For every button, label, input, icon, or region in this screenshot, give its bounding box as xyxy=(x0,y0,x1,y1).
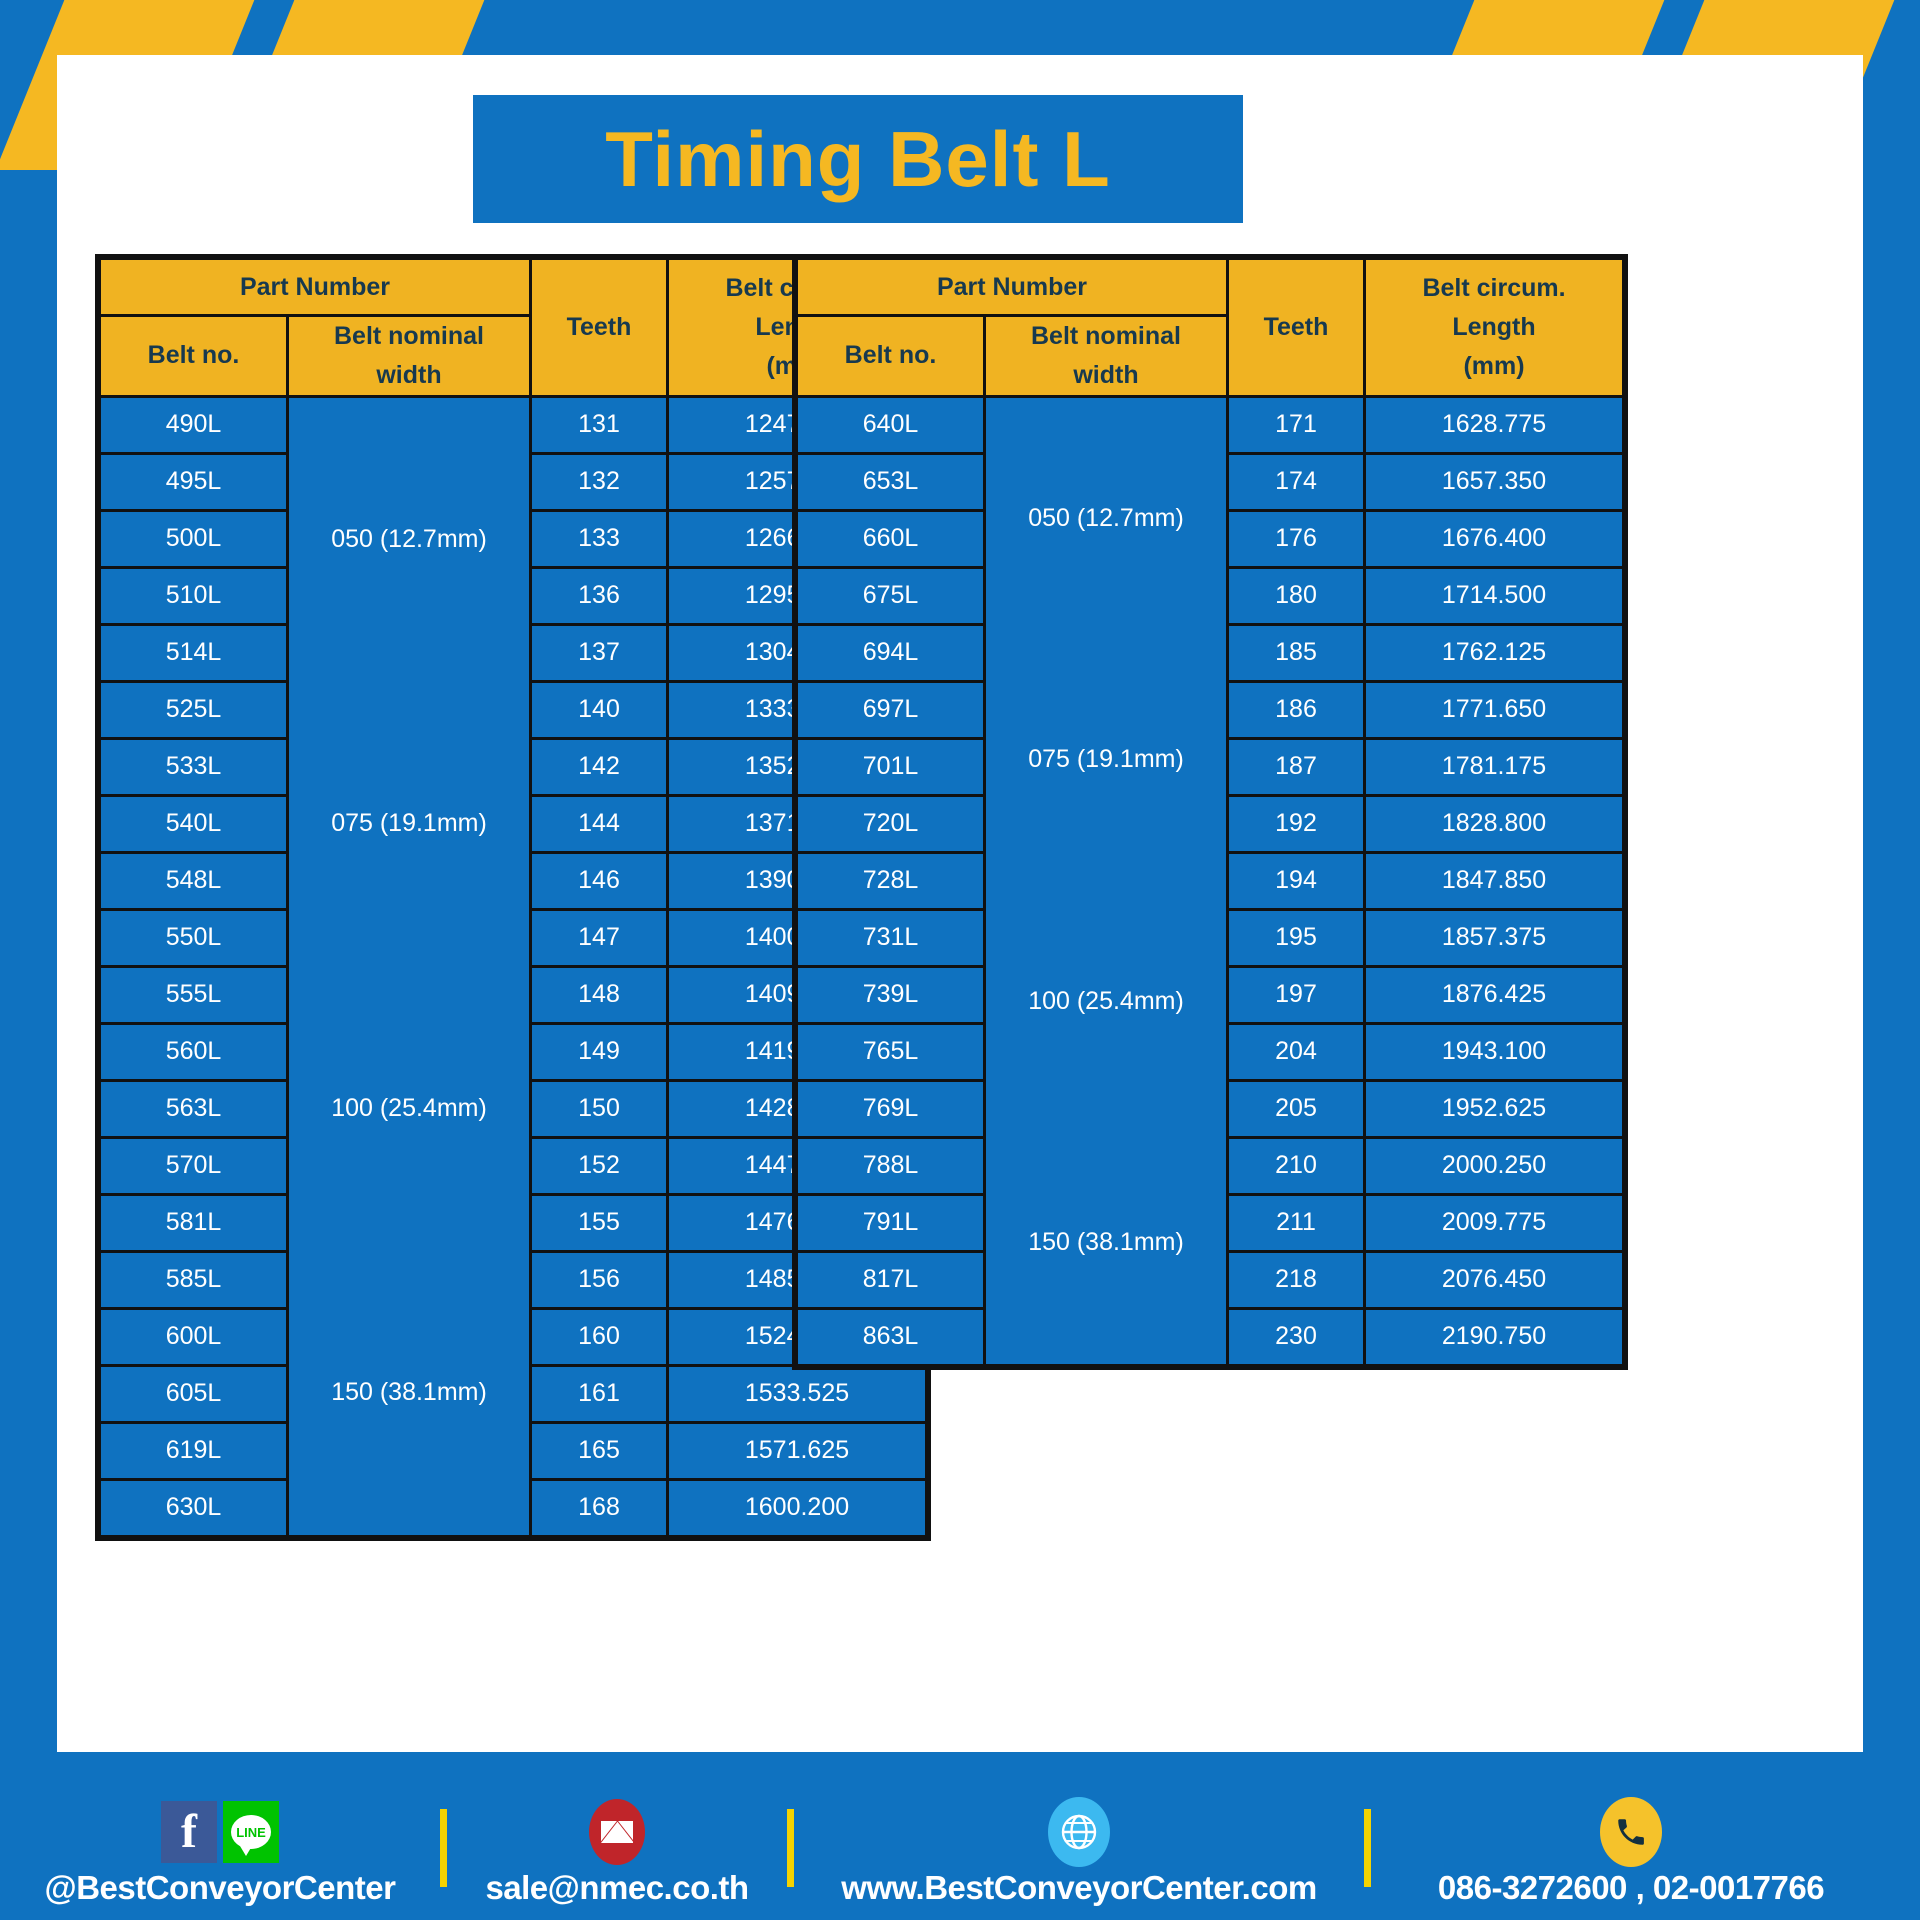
belt-width-option-0: 050 (12.7mm) xyxy=(986,502,1226,535)
envelope-icon xyxy=(600,1820,634,1844)
cell-teeth: 161 xyxy=(532,1367,666,1421)
cell-belt-length: 1657.350 xyxy=(1366,455,1622,509)
cell-teeth: 192 xyxy=(1229,797,1363,851)
header-belt-circum-l1-right: Belt circum. xyxy=(1422,274,1565,302)
footer-divider-2 xyxy=(787,1809,794,1887)
cell-belt-no: 630L xyxy=(101,1481,286,1535)
cell-teeth: 204 xyxy=(1229,1025,1363,1079)
cell-teeth: 152 xyxy=(532,1139,666,1193)
cell-teeth: 176 xyxy=(1229,512,1363,566)
line-bubble-icon: LINE xyxy=(231,1815,271,1849)
footer-website-icons xyxy=(1048,1799,1110,1865)
cell-belt-length: 2000.250 xyxy=(1366,1139,1622,1193)
cell-belt-nominal-width: 050 (12.7mm)075 (19.1mm)100 (25.4mm)150 … xyxy=(289,398,529,1535)
footer-social-icons: f LINE xyxy=(161,1799,279,1865)
globe-icon[interactable] xyxy=(1048,1797,1110,1867)
cell-teeth: 165 xyxy=(532,1424,666,1478)
cell-belt-no: 701L xyxy=(798,740,983,794)
cell-teeth: 144 xyxy=(532,797,666,851)
footer-website[interactable]: www.BestConveyorCenter.com xyxy=(794,1789,1364,1907)
header-belt-width-l1-right: Belt nominal xyxy=(1031,322,1181,350)
cell-belt-no: 863L xyxy=(798,1310,983,1364)
cell-belt-no: 555L xyxy=(101,968,286,1022)
cell-teeth: 185 xyxy=(1229,626,1363,680)
header-belt-width-l2-left: width xyxy=(376,361,441,389)
header-row-top-right: Part Number Teeth Belt circum. Length (m… xyxy=(798,260,1622,314)
cell-belt-no: 540L xyxy=(101,797,286,851)
page-title: Timing Belt L xyxy=(605,114,1111,205)
footer-social[interactable]: f LINE @BestConveyorCenter xyxy=(0,1789,440,1907)
cell-teeth: 140 xyxy=(532,683,666,737)
cell-belt-no: 697L xyxy=(798,683,983,737)
globe-glyph-icon xyxy=(1059,1812,1099,1852)
cell-belt-length: 2190.750 xyxy=(1366,1310,1622,1364)
cell-belt-no: 495L xyxy=(101,455,286,509)
cell-teeth: 186 xyxy=(1229,683,1363,737)
cell-belt-no: 500L xyxy=(101,512,286,566)
footer-email[interactable]: sale@nmec.co.th xyxy=(447,1789,787,1907)
header-belt-no-right: Belt no. xyxy=(798,317,983,395)
belt-width-option-1: 075 (19.1mm) xyxy=(986,743,1226,776)
cell-teeth: 197 xyxy=(1229,968,1363,1022)
cell-teeth: 155 xyxy=(532,1196,666,1250)
header-part-number-left: Part Number xyxy=(101,260,529,314)
cell-belt-no: 563L xyxy=(101,1082,286,1136)
cell-belt-no: 653L xyxy=(798,455,983,509)
cell-teeth: 146 xyxy=(532,854,666,908)
cell-belt-no: 640L xyxy=(798,398,983,452)
footer-phone[interactable]: 086-3272600 , 02-0017766 xyxy=(1371,1789,1891,1907)
cell-belt-no: 694L xyxy=(798,626,983,680)
cell-belt-no: 791L xyxy=(798,1196,983,1250)
cell-belt-no: 605L xyxy=(101,1367,286,1421)
cell-teeth: 210 xyxy=(1229,1139,1363,1193)
cell-belt-no: 581L xyxy=(101,1196,286,1250)
cell-belt-no: 817L xyxy=(798,1253,983,1307)
belt-width-option-2: 100 (25.4mm) xyxy=(986,985,1226,1018)
cell-teeth: 211 xyxy=(1229,1196,1363,1250)
cell-belt-no: 550L xyxy=(101,911,286,965)
footer-divider-3 xyxy=(1364,1809,1371,1887)
cell-belt-no: 533L xyxy=(101,740,286,794)
cell-teeth: 147 xyxy=(532,911,666,965)
cell-teeth: 133 xyxy=(532,512,666,566)
cell-belt-no: 510L xyxy=(101,569,286,623)
cell-teeth: 131 xyxy=(532,398,666,452)
cell-teeth: 205 xyxy=(1229,1082,1363,1136)
cell-belt-no: 720L xyxy=(798,797,983,851)
cell-teeth: 132 xyxy=(532,455,666,509)
cell-teeth: 174 xyxy=(1229,455,1363,509)
cell-teeth: 168 xyxy=(532,1481,666,1535)
cell-belt-no: 731L xyxy=(798,911,983,965)
table-head-right: Part Number Teeth Belt circum. Length (m… xyxy=(798,260,1622,395)
cell-teeth: 136 xyxy=(532,569,666,623)
cell-belt-no: 570L xyxy=(101,1139,286,1193)
cell-belt-no: 548L xyxy=(101,854,286,908)
facebook-icon[interactable]: f xyxy=(161,1801,217,1863)
cell-teeth: 195 xyxy=(1229,911,1363,965)
belt-width-option-1: 075 (19.1mm) xyxy=(289,807,529,840)
table-row: 640L050 (12.7mm)075 (19.1mm)100 (25.4mm)… xyxy=(798,398,1622,452)
cell-teeth: 194 xyxy=(1229,854,1363,908)
cell-teeth: 171 xyxy=(1229,398,1363,452)
cell-belt-no: 765L xyxy=(798,1025,983,1079)
contact-footer: f LINE @BestConveyorCenter sale@nmec.co.… xyxy=(0,1776,1920,1920)
cell-belt-no: 560L xyxy=(101,1025,286,1079)
table-body-right: 640L050 (12.7mm)075 (19.1mm)100 (25.4mm)… xyxy=(798,398,1622,1364)
cell-belt-no: 739L xyxy=(798,968,983,1022)
cell-teeth: 187 xyxy=(1229,740,1363,794)
footer-phone-icons xyxy=(1600,1799,1662,1865)
cell-teeth: 137 xyxy=(532,626,666,680)
phone-handset-icon xyxy=(1614,1815,1648,1849)
cell-belt-length: 1714.500 xyxy=(1366,569,1622,623)
header-belt-no-left: Belt no. xyxy=(101,317,286,395)
header-belt-width-l2-right: width xyxy=(1073,361,1138,389)
header-teeth-right: Teeth xyxy=(1229,260,1363,395)
cell-belt-length: 2009.775 xyxy=(1366,1196,1622,1250)
cell-belt-no: 675L xyxy=(798,569,983,623)
cell-teeth: 230 xyxy=(1229,1310,1363,1364)
cell-teeth: 142 xyxy=(532,740,666,794)
phone-icon[interactable] xyxy=(1600,1797,1662,1867)
page-title-box: Timing Belt L xyxy=(473,95,1243,223)
footer-social-label: @BestConveyorCenter xyxy=(45,1869,396,1907)
cell-belt-length: 1857.375 xyxy=(1366,911,1622,965)
cell-belt-length: 1628.775 xyxy=(1366,398,1622,452)
poster-root: Timing Belt L Part Number Teeth Belt cir… xyxy=(0,0,1920,1920)
cell-teeth: 156 xyxy=(532,1253,666,1307)
header-belt-nominal-width-left: Belt nominal width xyxy=(289,317,529,395)
header-belt-nominal-width-right: Belt nominal width xyxy=(986,317,1226,395)
belt-table-right-wrapper: Part Number Teeth Belt circum. Length (m… xyxy=(792,254,1628,1370)
cell-belt-length: 1571.625 xyxy=(669,1424,925,1478)
cell-belt-no: 660L xyxy=(798,512,983,566)
cell-belt-no: 514L xyxy=(101,626,286,680)
footer-website-label: www.BestConveyorCenter.com xyxy=(841,1869,1316,1907)
cell-belt-no: 769L xyxy=(798,1082,983,1136)
footer-phone-label: 086-3272600 , 02-0017766 xyxy=(1438,1869,1824,1907)
cell-belt-no: 600L xyxy=(101,1310,286,1364)
cell-teeth: 149 xyxy=(532,1025,666,1079)
belt-width-option-3: 150 (38.1mm) xyxy=(986,1226,1226,1259)
cell-belt-length: 1771.650 xyxy=(1366,683,1622,737)
footer-email-icons xyxy=(589,1799,645,1865)
header-belt-circum-l3-right: (mm) xyxy=(1463,352,1524,380)
cell-belt-nominal-width: 050 (12.7mm)075 (19.1mm)100 (25.4mm)150 … xyxy=(986,398,1226,1364)
content-sheet: Timing Belt L Part Number Teeth Belt cir… xyxy=(57,55,1863,1752)
email-icon[interactable] xyxy=(589,1799,645,1865)
header-belt-circum-l2-right: Length xyxy=(1452,313,1535,341)
cell-belt-length: 1676.400 xyxy=(1366,512,1622,566)
footer-divider-1 xyxy=(440,1809,447,1887)
cell-belt-no: 585L xyxy=(101,1253,286,1307)
header-teeth-left: Teeth xyxy=(532,260,666,395)
cell-belt-length: 1600.200 xyxy=(669,1481,925,1535)
cell-belt-no: 788L xyxy=(798,1139,983,1193)
cell-teeth: 180 xyxy=(1229,569,1363,623)
cell-belt-length: 1847.850 xyxy=(1366,854,1622,908)
belt-table-right: Part Number Teeth Belt circum. Length (m… xyxy=(792,254,1628,1370)
cell-belt-length: 1943.100 xyxy=(1366,1025,1622,1079)
cell-belt-no: 728L xyxy=(798,854,983,908)
belt-width-option-0: 050 (12.7mm) xyxy=(289,523,529,556)
cell-teeth: 148 xyxy=(532,968,666,1022)
cell-belt-length: 1781.175 xyxy=(1366,740,1622,794)
header-part-number-right: Part Number xyxy=(798,260,1226,314)
cell-teeth: 150 xyxy=(532,1082,666,1136)
cell-belt-length: 1762.125 xyxy=(1366,626,1622,680)
cell-belt-no: 619L xyxy=(101,1424,286,1478)
cell-belt-length: 1828.800 xyxy=(1366,797,1622,851)
cell-teeth: 160 xyxy=(532,1310,666,1364)
header-belt-width-l1-left: Belt nominal xyxy=(334,322,484,350)
belt-width-option-3: 150 (38.1mm) xyxy=(289,1376,529,1409)
belt-width-option-2: 100 (25.4mm) xyxy=(289,1092,529,1125)
cell-belt-length: 1533.525 xyxy=(669,1367,925,1421)
line-icon[interactable]: LINE xyxy=(223,1801,279,1863)
cell-teeth: 218 xyxy=(1229,1253,1363,1307)
cell-belt-length: 1876.425 xyxy=(1366,968,1622,1022)
footer-email-label: sale@nmec.co.th xyxy=(485,1869,748,1907)
cell-belt-length: 2076.450 xyxy=(1366,1253,1622,1307)
cell-belt-length: 1952.625 xyxy=(1366,1082,1622,1136)
cell-belt-no: 490L xyxy=(101,398,286,452)
cell-belt-no: 525L xyxy=(101,683,286,737)
header-belt-circum-right: Belt circum. Length (mm) xyxy=(1366,260,1622,395)
